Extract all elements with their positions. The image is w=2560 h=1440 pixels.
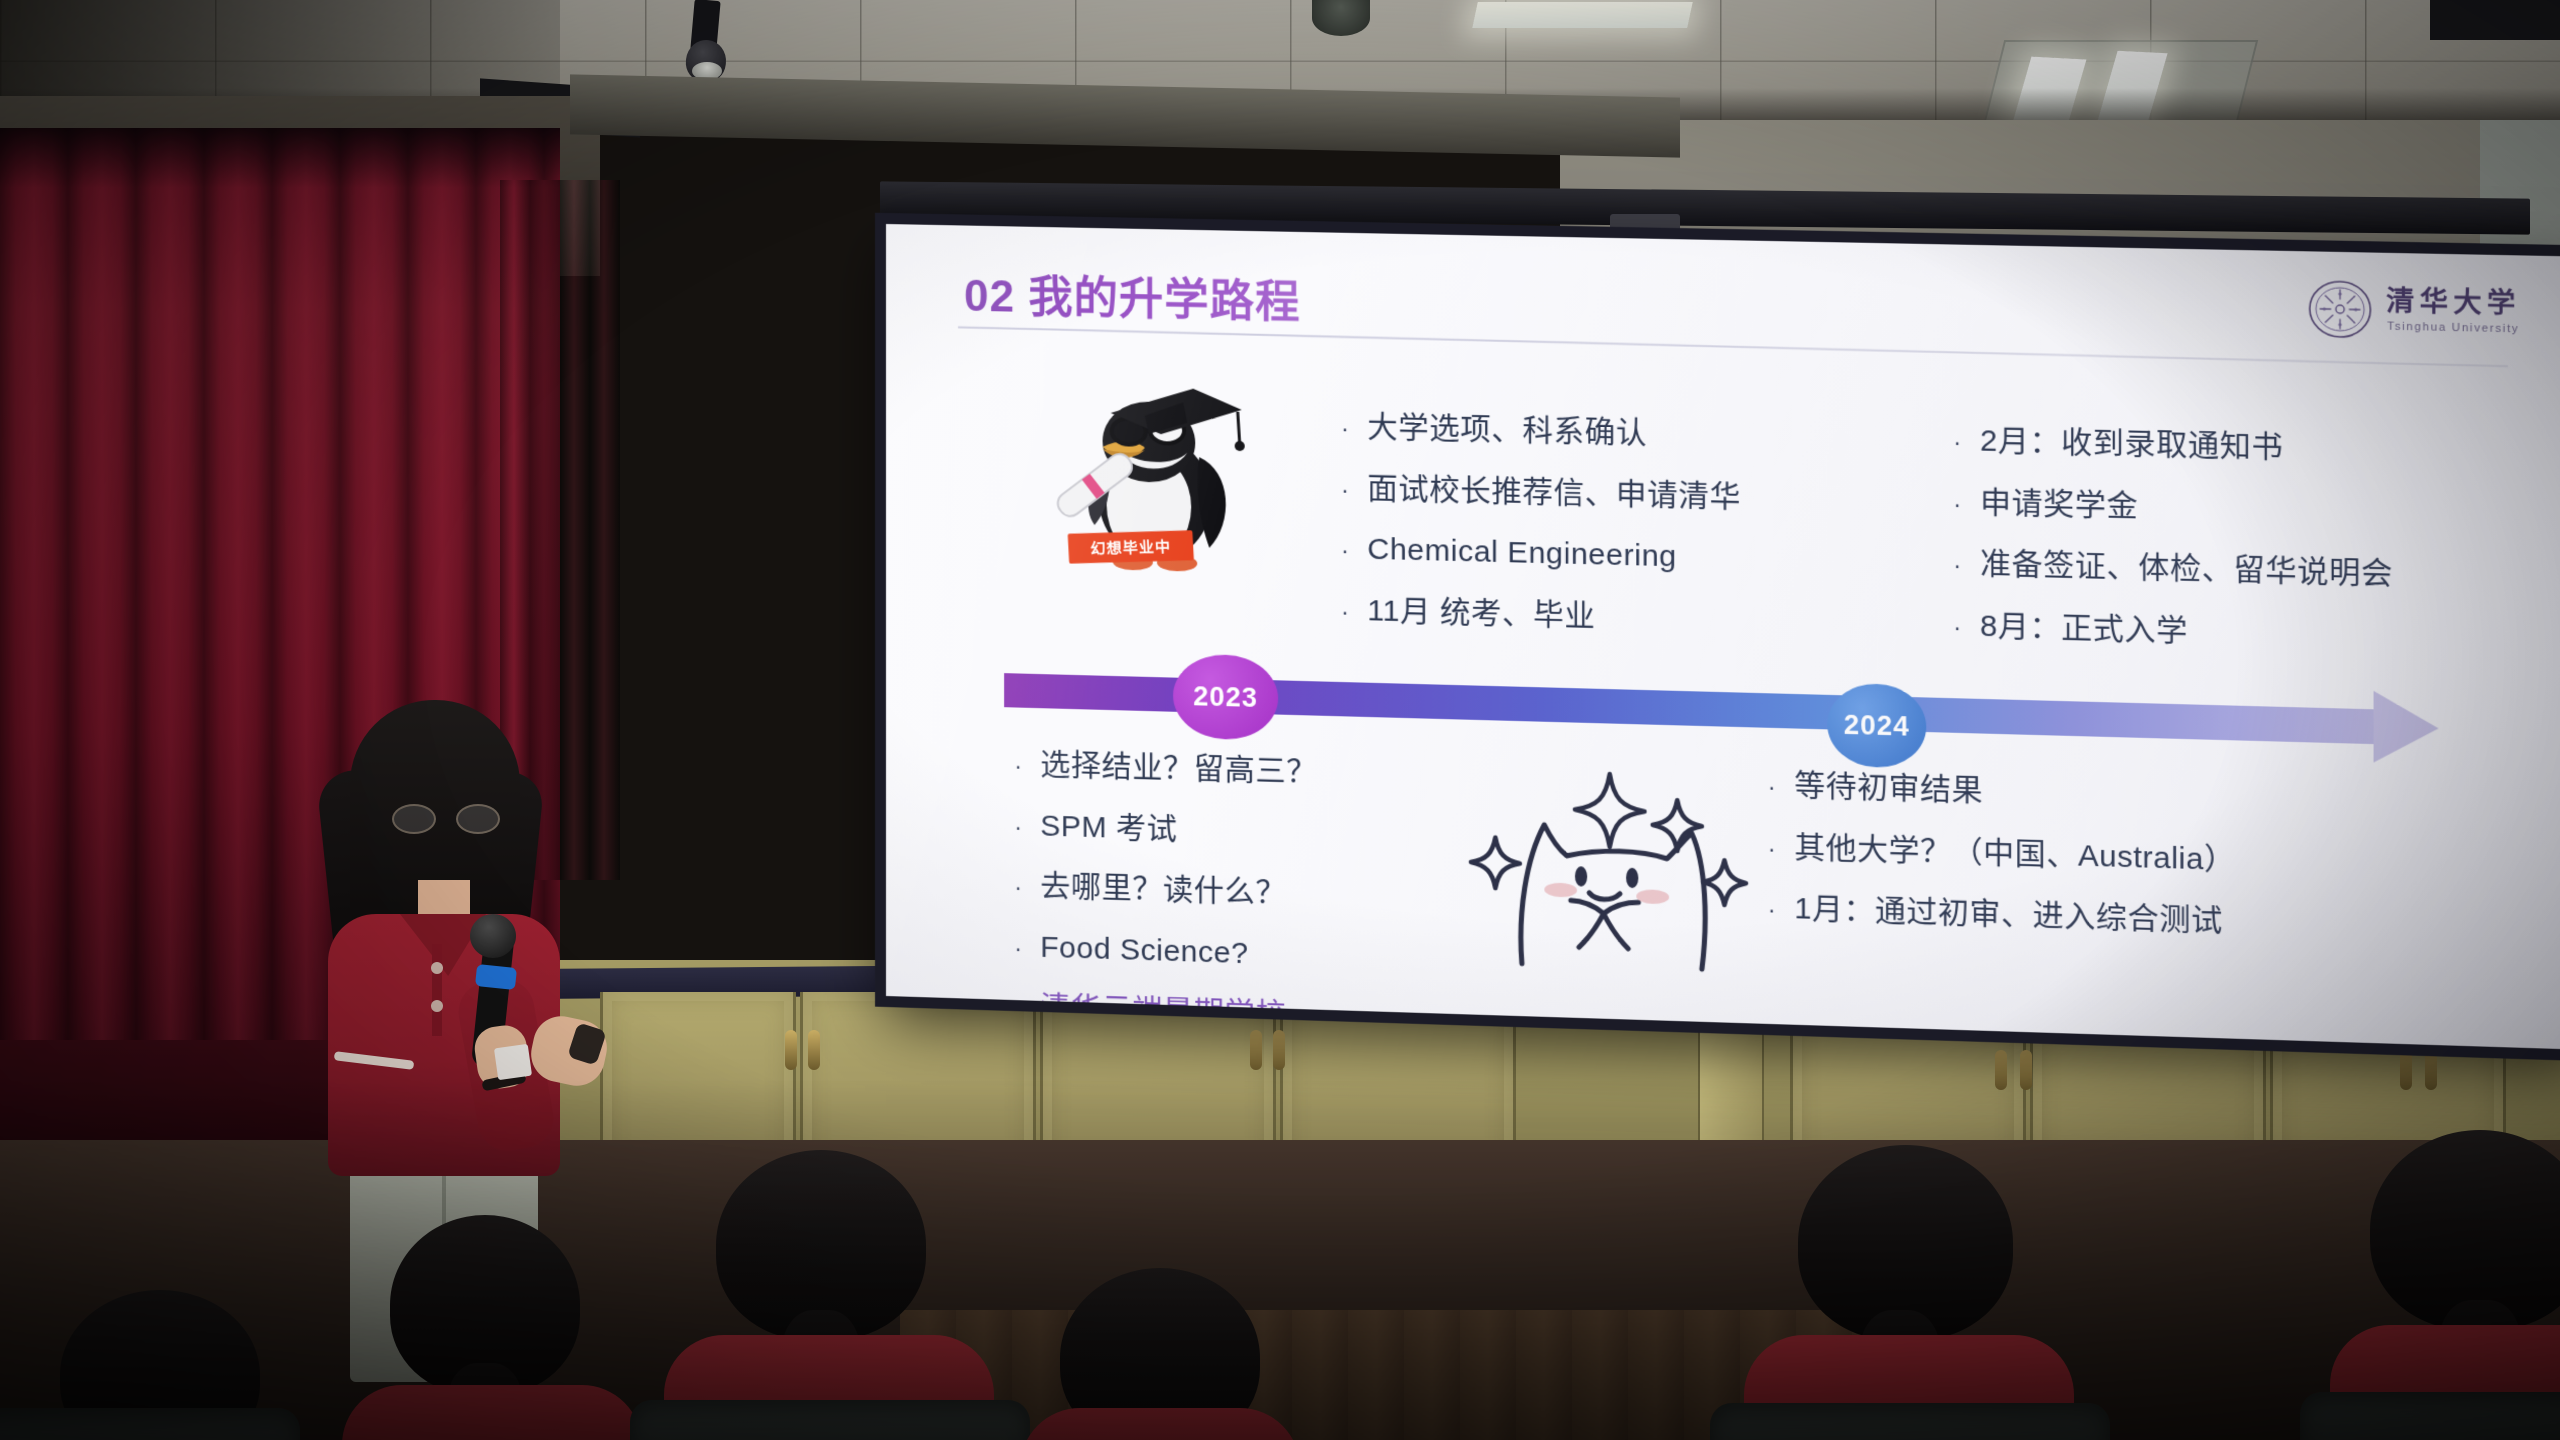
list-item-label: 等待初审结果 — [1794, 769, 1983, 809]
cabinet-handle-icon[interactable] — [2020, 1050, 2032, 1090]
title-divider — [958, 326, 2508, 367]
list-item-label: 选择结业？留高三？ — [1040, 748, 1317, 790]
list-item-label: SPM 考试 — [1040, 809, 1177, 848]
slide-title-number: 02 — [964, 272, 1015, 322]
bullet-dot-icon: · — [1341, 600, 1367, 625]
cabinet-handle-icon[interactable] — [808, 1030, 820, 1070]
projection-screen: 02 我的升学路程 — [886, 224, 2560, 1050]
cabinet-handle-icon[interactable] — [2400, 1050, 2412, 1090]
list-item-label: 11月 统考、毕业 — [1367, 594, 1595, 635]
presenter — [300, 700, 610, 1260]
bullet-dot-icon: · — [1953, 431, 1980, 456]
name-badge — [494, 1044, 532, 1080]
page-title: 02 我的升学路程 — [964, 260, 1301, 331]
bullet-dot-icon: · — [1768, 898, 1795, 923]
bullet-dot-icon: · — [1953, 554, 1980, 579]
shirt-button — [431, 1000, 443, 1012]
bullet-dot-icon: · — [1014, 876, 1040, 901]
list-item: · 大学选项、科系确认 — [1341, 410, 1997, 460]
list-item-label: 面试校长推荐信、申请清华 — [1367, 472, 1741, 516]
list-item: · Chemical Engineering — [1341, 532, 1997, 583]
list-item-label: 1月：通过初审、进入综合测试 — [1794, 892, 2222, 940]
ceiling-dome-light-icon — [1312, 0, 1370, 36]
list-item: · 准备签证、体检、留华说明会 — [1953, 547, 2560, 597]
timeline-2023-top-list: · 大学选项、科系确认 · 面试校长推荐信、申请清华 · Chemical En… — [1341, 410, 1997, 671]
audience-member — [2340, 1130, 2560, 1440]
bullet-dot-icon: · — [1014, 815, 1040, 840]
audience-member — [660, 1150, 1010, 1440]
timeline-arrow-head-icon — [2374, 691, 2439, 764]
shirt-button — [431, 962, 443, 974]
timeline-2024-bottom-list: · 等待初审结果 · 其他大学？（中国、Australia） · 1月：通过初审… — [1768, 768, 2412, 972]
list-item: · 11月 统考、毕业 — [1341, 593, 1997, 644]
bullet-dot-icon: · — [1953, 615, 1980, 640]
bullet-dot-icon: · — [1014, 936, 1040, 961]
cabinet-handle-icon[interactable] — [1995, 1050, 2007, 1090]
audience-member — [330, 1215, 660, 1440]
timeline-node-2024: 2024 — [1827, 683, 1926, 769]
tsinghua-seal-icon — [2308, 278, 2373, 341]
list-item-label: 申请奖学金 — [1980, 486, 2138, 525]
bullet-dot-icon: · — [1953, 492, 1980, 517]
auditorium-scene: 02 我的升学路程 — [0, 0, 2560, 1440]
audience-member — [1740, 1145, 2080, 1440]
bullet-dot-icon: · — [1341, 539, 1367, 564]
list-item: · 等待初审结果 — [1768, 768, 2412, 821]
graduate-penguin-icon: 幻想毕业中 — [1036, 367, 1268, 593]
glasses-icon — [392, 804, 496, 830]
list-item-label: Food Science? — [1040, 930, 1248, 971]
list-item-label: Chemical Engineering — [1367, 533, 1676, 575]
penguin-banner: 幻想毕业中 — [1068, 530, 1194, 564]
list-item-label: 去哪里？读什么？ — [1040, 870, 1286, 912]
list-item-label: 2月：收到录取通知书 — [1980, 424, 2283, 466]
list-item-label: 大学选项、科系确认 — [1367, 411, 1647, 452]
timeline-2024-top-list: · 2月：收到录取通知书 · 申请奖学金 · 准备签证、体检、留华说明会 · 8… — [1953, 424, 2560, 686]
microphone-blue-ring — [475, 964, 517, 990]
curtain-shadow — [0, 128, 560, 188]
sparkle-cat-doodle-icon — [1451, 760, 1758, 1002]
microphone-head-icon — [470, 914, 516, 958]
presentation-slide: 02 我的升学路程 — [886, 224, 2560, 1050]
bullet-dot-icon: · — [1768, 837, 1795, 862]
bullet-dot-icon: · — [1768, 775, 1795, 800]
list-item-label: 其他大学？（中国、Australia） — [1794, 830, 2235, 878]
ceiling-beam — [2430, 0, 2560, 40]
cabinet-handle-icon[interactable] — [1273, 1030, 1285, 1070]
bullet-dot-icon: · — [1341, 478, 1367, 503]
list-item-label: 8月：正式入学 — [1980, 609, 2188, 649]
list-item: · 面试校长推荐信、申请清华 — [1341, 471, 1997, 521]
list-item: · 2月：收到录取通知书 — [1953, 424, 2560, 473]
list-item: · 其他大学？（中国、Australia） — [1768, 830, 2412, 884]
bullet-dot-icon: · — [1341, 417, 1367, 442]
list-item: · 申请奖学金 — [1953, 485, 2560, 535]
logo-name-cn: 清华大学 — [2386, 288, 2520, 318]
list-item-label: 准备签证、体检、留华说明会 — [1980, 547, 2393, 592]
fluorescent-light-icon — [1472, 2, 1693, 28]
list-item: · 8月：正式入学 — [1953, 608, 2560, 659]
tsinghua-logo: 清华大学 Tsinghua University — [2308, 278, 2521, 344]
logo-text: 清华大学 Tsinghua University — [2386, 288, 2520, 336]
audience-seat-row — [0, 1290, 290, 1440]
bullet-dot-icon: · — [1014, 755, 1040, 780]
projector-screen-clip — [1610, 214, 1680, 232]
cabinet-handle-icon[interactable] — [1250, 1030, 1262, 1070]
shirt-placket — [432, 944, 442, 1036]
list-item: · 1月：通过初审、进入综合测试 — [1768, 891, 2412, 945]
cabinet-handle-icon[interactable] — [785, 1030, 797, 1070]
cabinet-handle-icon[interactable] — [2425, 1050, 2437, 1090]
slide-title-text: 我的升学路程 — [1028, 273, 1300, 328]
timeline-node-2023: 2023 — [1173, 653, 1278, 740]
audience-member — [1010, 1268, 1310, 1440]
logo-name-en: Tsinghua University — [2387, 321, 2519, 335]
